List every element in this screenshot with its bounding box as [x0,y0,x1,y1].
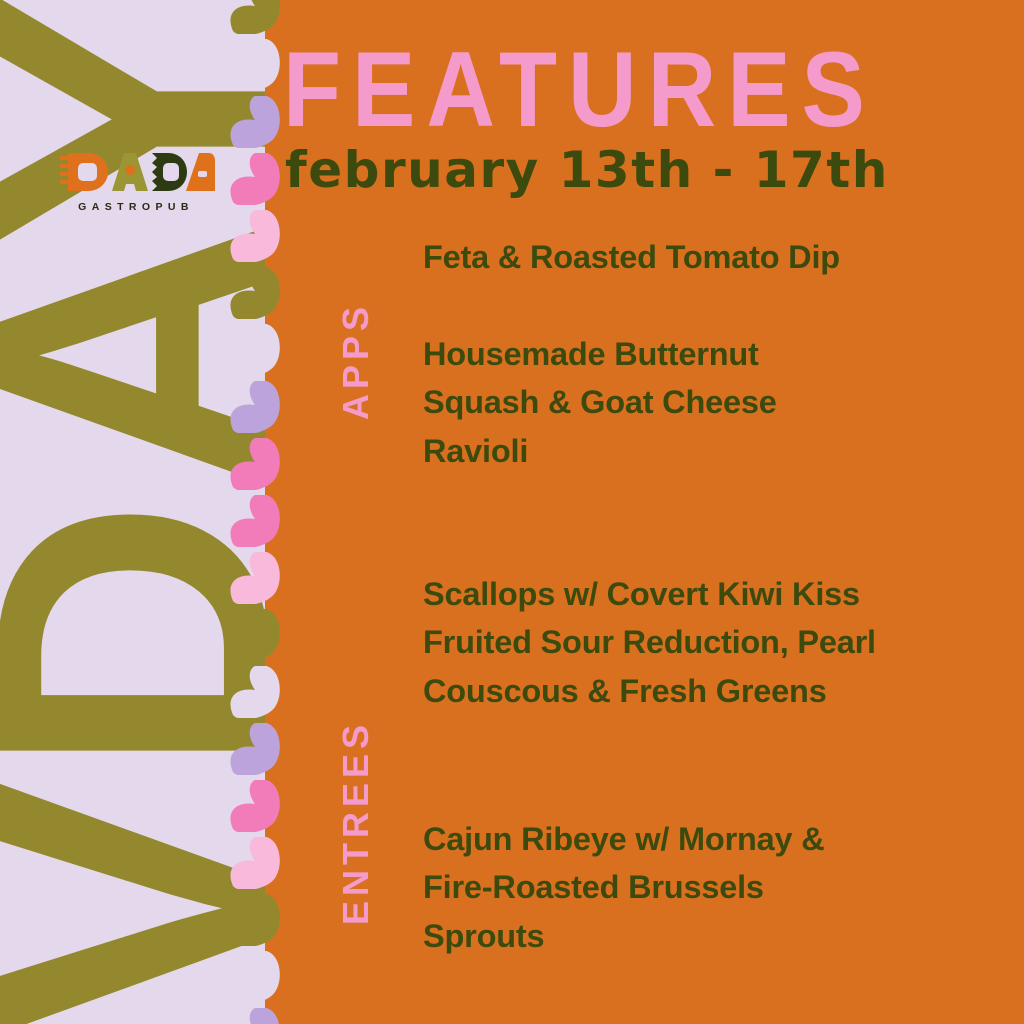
heart-icon [226,0,284,34]
heart-icon [226,666,284,718]
heart-icon [226,39,284,91]
heart-icon [226,267,284,319]
heart-icon [226,951,284,1003]
date-range: february 13th - 17th [285,141,889,199]
heart-icon [226,495,284,547]
heart-icon [226,153,284,205]
dada-wordmark [60,146,215,198]
heart-icon [226,438,284,490]
menu-item: Cajun Ribeye w/ Mornay & Fire-Roasted Br… [423,815,893,960]
heart-icon [226,780,284,832]
logo-dot [125,165,135,175]
logo-letter-d1-counter [78,163,97,181]
page-title: FEATURES [283,40,1023,141]
dada-tagline: GASTROPUB [60,201,212,213]
heart-icon [226,381,284,433]
section-label-entrees: ENTREES [335,720,377,925]
heart-icon [226,894,284,946]
dada-logo: GASTROPUB [60,146,218,213]
menu-item: Feta & Roasted Tomato Dip [423,233,953,281]
logo-letter-a2-counter [198,171,207,177]
heart-border-strip [226,0,286,1024]
heart-icon [226,324,284,376]
heart-icon [226,609,284,661]
menu-item: Scallops w/ Covert Kiwi Kiss Fruited Sou… [423,570,913,715]
menu-item: Housemade Butternut Squash & Goat Cheese… [423,330,823,475]
menu-content: FEATURES february 13th - 17th APPS ENTRE… [265,0,1024,1024]
heart-icon [226,552,284,604]
heart-icon [226,837,284,889]
menu-poster: VDAY GASTROPUB [0,0,1024,1024]
logo-letter-d2-counter [163,163,179,181]
heart-icon [226,723,284,775]
heart-icon [226,210,284,262]
heart-icon [226,1008,284,1024]
section-label-apps: APPS [335,302,377,420]
heart-icon [226,96,284,148]
